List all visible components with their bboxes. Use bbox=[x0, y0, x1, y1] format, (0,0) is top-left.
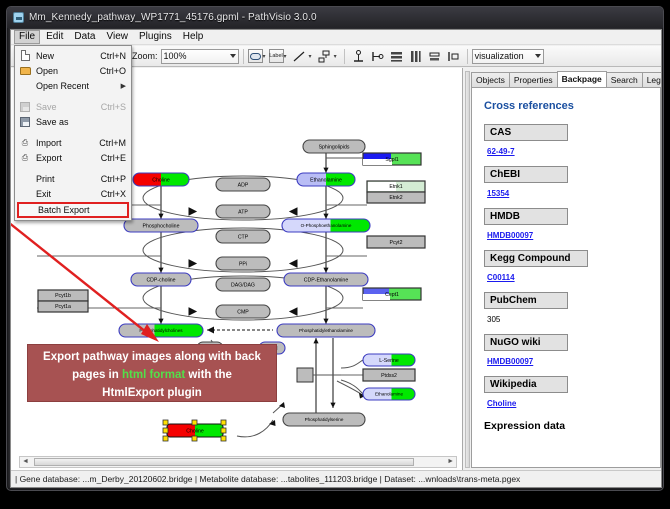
xref-value-link[interactable]: HMDB00097 bbox=[487, 357, 533, 366]
xref-entry-kegg-compound: Kegg Compound C00114 bbox=[484, 250, 650, 285]
save-as-disk-icon bbox=[18, 116, 32, 128]
menu-item-label: Open bbox=[36, 66, 100, 76]
tab-search[interactable]: Search bbox=[606, 72, 643, 87]
stack-icon[interactable] bbox=[426, 48, 443, 65]
gene-node-cept1: Cept1 bbox=[363, 288, 421, 300]
gene-label: Etnk1 bbox=[389, 184, 402, 190]
xref-database-label: CAS bbox=[484, 124, 568, 141]
menu-item-label: Open Recent bbox=[36, 81, 121, 91]
application-window: Mm_Kennedy_pathway_WP1771_45176.gpml - P… bbox=[6, 6, 664, 491]
xref-database-label: ChEBI bbox=[484, 166, 568, 183]
xref-entry-nugo-wiki: NuGO wiki HMDB00097 bbox=[484, 334, 650, 369]
label-button[interactable]: Label bbox=[269, 49, 284, 63]
xref-value-link[interactable]: 15354 bbox=[487, 189, 509, 198]
node-label: Phosphatidylserine bbox=[305, 417, 344, 422]
callout-line-2: pages in html format with the bbox=[28, 366, 276, 384]
menu-item-label: Batch Export bbox=[38, 205, 127, 215]
metabolite-node-choline-selected: Choline bbox=[163, 420, 226, 441]
save-disk-icon bbox=[18, 101, 32, 113]
metabolite-node-ppi: PPi bbox=[216, 257, 270, 270]
side-panel: Objects Properties Backpage Search Legen… bbox=[464, 68, 662, 471]
callout-line-2-suffix: with the bbox=[185, 369, 232, 381]
node-label: PPi bbox=[239, 261, 247, 267]
node-label: CTP bbox=[238, 234, 249, 240]
menu-item-accelerator: Ctrl+X bbox=[101, 189, 131, 199]
shape-icon[interactable] bbox=[316, 48, 333, 65]
chevron-down-icon bbox=[535, 54, 541, 58]
scroll-right-icon[interactable]: ► bbox=[447, 458, 454, 466]
menu-item-save-as[interactable]: Save as bbox=[15, 114, 131, 129]
gene-node-etnk2: Etnk2 bbox=[367, 192, 425, 203]
gene-node-pcyt1a: Pcyt1a bbox=[38, 301, 88, 312]
xref-entry-pubchem: PubChem 305 bbox=[484, 292, 650, 327]
menu-item-accelerator: Ctrl+P bbox=[101, 174, 131, 184]
backpage-content: Cross references CAS 62-49-7 ChEBI 15354… bbox=[471, 87, 661, 468]
menu-item-label: Save bbox=[36, 102, 101, 112]
metabolite-node-l-serine: L-Serine bbox=[363, 354, 415, 366]
node-label: Phosphocholine bbox=[143, 223, 180, 229]
scroll-left-icon[interactable]: ◄ bbox=[22, 458, 29, 466]
menu-file[interactable]: File bbox=[14, 30, 40, 44]
gene-node-ptdss2: Ptdss2 bbox=[363, 369, 415, 381]
xref-database-label: HMDB bbox=[484, 208, 568, 225]
node-label: O-Phosphoethanolamine bbox=[301, 223, 352, 228]
tab-objects[interactable]: Objects bbox=[471, 72, 510, 87]
gene-label: Cept1 bbox=[385, 292, 399, 298]
gene-node-pcyt2: Pcyt2 bbox=[367, 236, 425, 248]
menu-view[interactable]: View bbox=[101, 30, 133, 44]
menu-item-label: Import bbox=[36, 138, 99, 148]
spacer-icon bbox=[18, 80, 32, 92]
tab-properties[interactable]: Properties bbox=[509, 72, 558, 87]
window-title: Mm_Kennedy_pathway_WP1771_45176.gpml - P… bbox=[29, 12, 317, 23]
node-label: Sphingolipids bbox=[319, 144, 350, 150]
spacer-icon bbox=[18, 188, 32, 200]
callout-line-1: Export pathway images along with back bbox=[28, 348, 276, 366]
chevron-down-icon[interactable]: ▾ bbox=[309, 53, 312, 60]
node-label: ATP bbox=[238, 209, 248, 215]
zoom-label: Zoom: bbox=[132, 51, 158, 61]
metabolite-node-choline: Choline bbox=[133, 173, 189, 186]
client-area: File Edit Data View Plugins Help Zoom: 1… bbox=[10, 29, 662, 488]
node-label: L-Serine bbox=[379, 358, 399, 364]
gene-label: Pcyt1b bbox=[55, 293, 71, 299]
status-text: | Gene database: ...m_Derby_20120602.bri… bbox=[15, 474, 520, 484]
menu-bar: File Edit Data View Plugins Help bbox=[11, 30, 661, 45]
xref-entry-hmdb: HMDB HMDB00097 bbox=[484, 208, 650, 243]
xref-database-label: PubChem bbox=[484, 292, 568, 309]
window-titlebar: Mm_Kennedy_pathway_WP1771_45176.gpml - P… bbox=[7, 7, 663, 28]
submenu-arrow-icon: ▶ bbox=[121, 82, 131, 90]
gene-label: Ptdss2 bbox=[381, 373, 397, 379]
menu-item-print[interactable]: Print Ctrl+P bbox=[15, 171, 131, 186]
zoom-combobox[interactable]: 100% bbox=[161, 49, 239, 64]
xref-entry-chebi: ChEBI 15354 bbox=[484, 166, 650, 201]
node-label: CMP bbox=[237, 309, 249, 315]
node-label: ADP bbox=[238, 182, 249, 188]
metabolite-node-adp: ADP bbox=[216, 178, 270, 191]
xref-value-link[interactable]: HMDB00097 bbox=[487, 231, 533, 240]
toolbar-separator bbox=[344, 49, 345, 64]
node-label: Ethanolamine bbox=[310, 177, 342, 183]
menu-item-exit[interactable]: Exit Ctrl+X bbox=[15, 186, 131, 201]
metabolite-node-phosphatidylethanolamine: Phosphatidylethanolamine bbox=[277, 324, 375, 337]
metabolite-node-cdp-ethanolamine: CDP-Ethanolamine bbox=[284, 273, 368, 286]
xref-value-link[interactable]: C00114 bbox=[487, 273, 515, 282]
node-label: Choline bbox=[186, 428, 204, 434]
metabolite-node-ethanolamine-right: Ethanolamine bbox=[363, 388, 415, 400]
chevron-down-icon[interactable]: ▾ bbox=[334, 53, 337, 60]
metabolite-node-ethanolamine-top: Ethanolamine bbox=[297, 173, 355, 186]
menu-item-label: Save as bbox=[36, 117, 126, 127]
side-panel-tabs: Objects Properties Backpage Search Legen… bbox=[471, 71, 662, 87]
cross-references-title: Cross references bbox=[484, 100, 650, 112]
align-left-icon[interactable] bbox=[369, 48, 386, 65]
menu-item-accelerator: Ctrl+O bbox=[100, 66, 131, 76]
menu-data[interactable]: Data bbox=[69, 30, 100, 44]
metabolite-node-dag: DAG/DAG bbox=[216, 278, 270, 291]
node-label: Phosphatidylethanolamine bbox=[299, 328, 353, 333]
xref-database-label: Kegg Compound bbox=[484, 250, 588, 267]
chevron-down-icon bbox=[230, 54, 236, 58]
chevron-down-icon[interactable]: ▾ bbox=[284, 53, 287, 60]
canvas-horizontal-scrollbar[interactable]: ◄ ► bbox=[19, 456, 457, 468]
xref-value-link[interactable]: 62-49-7 bbox=[487, 147, 515, 156]
menu-item-accelerator: Ctrl+M bbox=[99, 138, 131, 148]
chevron-down-icon[interactable]: ▾ bbox=[263, 53, 266, 60]
align-top-icon[interactable] bbox=[350, 48, 367, 65]
metabolite-node-ctp: CTP bbox=[216, 230, 270, 243]
toolbar-separator bbox=[243, 49, 244, 64]
import-icon: ⎙ bbox=[18, 137, 32, 149]
new-document-icon bbox=[18, 50, 32, 62]
menu-item-open[interactable]: Open Ctrl+O bbox=[15, 63, 131, 78]
menu-item-label: Exit bbox=[36, 189, 101, 199]
node-label: CDP-Ethanolamine bbox=[304, 277, 349, 283]
group-icon[interactable] bbox=[445, 48, 462, 65]
metabolite-node-phosphatidylserine: Phosphatidylserine bbox=[283, 413, 365, 426]
metabolite-node-cmp: CMP bbox=[216, 305, 270, 318]
annotation-callout: Export pathway images along with back pa… bbox=[27, 344, 277, 402]
datanode-icon[interactable] bbox=[248, 49, 263, 63]
toolbar-separator bbox=[467, 49, 468, 64]
menu-item-export[interactable]: ⎙ Export Ctrl+E bbox=[15, 150, 131, 165]
xref-database-label: NuGO wiki bbox=[484, 334, 568, 351]
tab-backpage[interactable]: Backpage bbox=[557, 71, 607, 87]
node-label: Ethanolamine bbox=[375, 392, 404, 397]
callout-highlight: html format bbox=[122, 369, 185, 381]
xref-value-link[interactable]: Choline bbox=[487, 399, 516, 408]
xref-database-label: Wikipedia bbox=[484, 376, 568, 393]
metabolite-node-o-phosphoethanolamine: O-Phosphoethanolamine bbox=[282, 219, 370, 232]
gene-label: Etnk2 bbox=[389, 195, 402, 201]
metabolite-node-sphingolipids: Sphingolipids bbox=[303, 140, 365, 153]
xref-value-text: 305 bbox=[487, 315, 500, 324]
visualization-value: visualization bbox=[475, 51, 536, 61]
gene-label: Pcyt1a bbox=[55, 304, 71, 310]
menu-item-label: Export bbox=[36, 153, 101, 163]
menu-item-new[interactable]: New Ctrl+N bbox=[15, 48, 131, 63]
screenshot-root: Mm_Kennedy_pathway_WP1771_45176.gpml - P… bbox=[0, 0, 670, 509]
metabolite-node-atp: ATP bbox=[216, 205, 270, 218]
menu-item-accelerator: Ctrl+E bbox=[101, 153, 131, 163]
gene-node-etnk1: Etnk1 bbox=[367, 181, 425, 192]
menu-item-label: Print bbox=[36, 174, 101, 184]
panel-splitter[interactable] bbox=[465, 71, 470, 468]
metabolite-node-cdp-choline: CDP-choline bbox=[131, 273, 191, 286]
menu-item-save: Save Ctrl+S bbox=[15, 99, 131, 114]
open-folder-icon bbox=[18, 65, 32, 77]
menu-plugins[interactable]: Plugins bbox=[134, 30, 177, 44]
scrollbar-thumb[interactable] bbox=[34, 458, 414, 466]
gene-node-pcyt1b: Pcyt1b bbox=[38, 290, 88, 301]
export-icon: ⎙ bbox=[18, 152, 32, 164]
menu-item-accelerator: Ctrl+S bbox=[101, 102, 131, 112]
line-icon[interactable] bbox=[291, 48, 308, 65]
spacer-icon bbox=[20, 204, 34, 216]
pathvisio-icon bbox=[13, 12, 24, 23]
zoom-value: 100% bbox=[164, 51, 199, 61]
menu-item-accelerator: Ctrl+N bbox=[100, 51, 131, 61]
spacer-icon bbox=[18, 173, 32, 185]
node-label: CDP-choline bbox=[146, 277, 175, 283]
metabolite-node-phosphatidylcholines: Phosphatidylcholines bbox=[119, 324, 203, 337]
visualization-combobox[interactable]: visualization bbox=[472, 49, 544, 64]
tab-legend[interactable]: Legend bbox=[642, 72, 662, 87]
gene-label: Sgpl1 bbox=[385, 157, 398, 163]
callout-line-3: HtmlExport plugin bbox=[28, 384, 276, 402]
menu-edit[interactable]: Edit bbox=[41, 30, 68, 44]
callout-line-2-prefix: pages in bbox=[72, 369, 122, 381]
distribute-vertical-icon[interactable] bbox=[388, 48, 405, 65]
xref-entry-cas: CAS 62-49-7 bbox=[484, 124, 650, 159]
status-bar: | Gene database: ...m_Derby_20120602.bri… bbox=[11, 470, 661, 487]
file-menu-dropdown: New Ctrl+N Open Ctrl+O Open Recent ▶ Sav… bbox=[14, 45, 132, 221]
node-label: DAG/DAG bbox=[231, 282, 255, 288]
expression-data-title: Expression data bbox=[484, 420, 650, 432]
menu-item-open-recent[interactable]: Open Recent ▶ bbox=[15, 78, 131, 93]
menu-help[interactable]: Help bbox=[178, 30, 209, 44]
gene-label: Pcyt2 bbox=[390, 240, 403, 246]
gene-node-sgpl1: Sgpl1 bbox=[363, 153, 421, 165]
menu-item-batch-export[interactable]: Batch Export bbox=[17, 202, 129, 218]
node-label: Choline bbox=[152, 177, 170, 183]
xref-entry-wikipedia: Wikipedia Choline bbox=[484, 376, 650, 411]
distribute-horizontal-icon[interactable] bbox=[407, 48, 424, 65]
menu-item-import[interactable]: ⎙ Import Ctrl+M bbox=[15, 135, 131, 150]
metabolite-node-phosphocholine: Phosphocholine bbox=[124, 219, 198, 232]
menu-item-label: New bbox=[36, 51, 100, 61]
node-label: Phosphatidylcholines bbox=[139, 328, 183, 333]
